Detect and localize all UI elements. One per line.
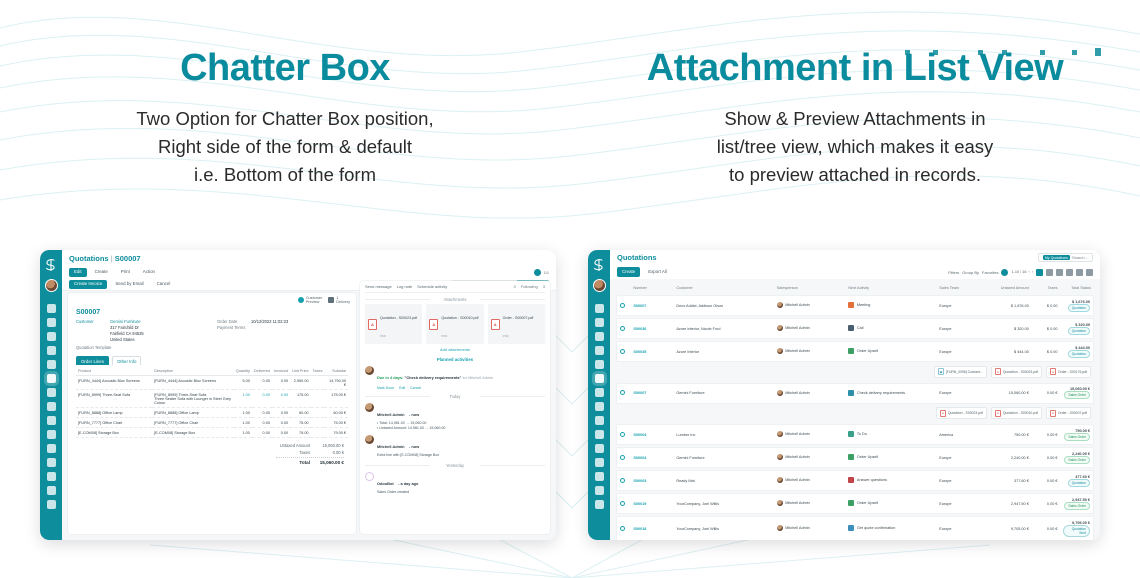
- breadcrumb-app[interactable]: Quotations: [69, 254, 109, 263]
- col-invoiced[interactable]: Invoiced: [272, 367, 290, 376]
- cell-delivered: 0.00: [252, 408, 272, 418]
- list-view-screenshot: Quotations My Quotations Search... Creat…: [588, 250, 1100, 540]
- sidebar-icon-list: [47, 304, 56, 509]
- attachment-chips-cell: AQuotation - S00023.pdfAQuotation - S000…: [616, 406, 1094, 423]
- col-description[interactable]: Description: [152, 367, 234, 376]
- cell-taxes: [311, 408, 325, 418]
- message-time: - now: [409, 412, 419, 417]
- sidebar-item-manufacturing[interactable]: [47, 416, 56, 425]
- table-row[interactable]: S00035Azure InteriorMitchell AdminOrder …: [616, 341, 1094, 362]
- cancel-button[interactable]: Cancel: [152, 280, 176, 289]
- customer-preview-smart-button[interactable]: Customer Preview: [298, 296, 322, 305]
- cell-invoiced: 0.00: [272, 376, 290, 390]
- cell-description: [E-COM08] Storage Box: [152, 428, 234, 438]
- table-row[interactable]: S00004Lumber IncMitchell AdminTo DoAmeri…: [616, 424, 1094, 445]
- sidebar-item-invoicing[interactable]: [47, 388, 56, 397]
- pager-prev-icon[interactable]: ‹: [1028, 270, 1029, 274]
- cell-product: [E-COM08] Storage Box: [76, 428, 152, 438]
- sidebar-item-purchase[interactable]: [47, 402, 56, 411]
- pager[interactable]: 1-10 / 16 ‹ ›: [1011, 270, 1033, 274]
- cell-sales-team: Europe: [936, 493, 979, 514]
- sidebar-item-crm[interactable]: [595, 318, 604, 327]
- cell-total-status: 2,947.50 € Sales Order: [1060, 493, 1094, 514]
- create-button[interactable]: Create: [617, 267, 640, 276]
- attachment-chip-name: Quotation - S00023.pdf: [1003, 370, 1038, 374]
- cell-quantity: 1.00: [234, 390, 252, 408]
- headings-row: Chatter Box Two Option for Chatter Box p…: [0, 0, 1140, 189]
- attachment-chip-name: Quotation - S00023.pdf: [948, 411, 983, 415]
- field-quotation-template: Quotation Template: [76, 345, 207, 350]
- breadcrumb-bar: Quotations My Quotations Search...: [610, 250, 1100, 265]
- cell-next-activity: Meeting: [845, 295, 936, 316]
- cancel-activity-button[interactable]: Cancel: [410, 386, 421, 390]
- table-row[interactable]: [FURN_8999] Three-Seat Sofa [FURN_8999] …: [76, 390, 348, 408]
- form-view-screenshot: Quotations | S00007 Edit Create Print Ac…: [40, 250, 556, 540]
- cell-salesperson: Mitchell Admin: [774, 516, 846, 540]
- status-badge: Quotation: [1068, 304, 1090, 312]
- search-facet[interactable]: My Quotations: [1043, 255, 1070, 260]
- status-badge: Sales Order: [1064, 502, 1090, 510]
- avatar: [777, 500, 783, 506]
- sidebar-item-hr[interactable]: [595, 444, 604, 453]
- form-column-right: Order Date 10/12/2022 11:02:23 Payment T…: [217, 319, 348, 352]
- sidebar-item-apps[interactable]: [595, 486, 604, 495]
- table-row[interactable]: [FURN_4444] Acoustic Bloc Screens [FURN_…: [76, 376, 348, 390]
- attachment-type: PDF: [441, 334, 447, 338]
- avatar-badge-icon: [534, 269, 541, 276]
- col-subtotal[interactable]: Subtotal: [324, 367, 348, 376]
- pdf-icon: A: [429, 319, 438, 330]
- cell-subtotal: 60.00 €: [324, 408, 348, 418]
- attachment-chip[interactable]: AQuotation - S00023.pdf: [936, 407, 987, 419]
- edit-activity-button[interactable]: Edit: [399, 386, 405, 390]
- sidebar-item-recruitment[interactable]: [595, 458, 604, 467]
- filters-dropdown[interactable]: Filters: [948, 270, 959, 275]
- cell-customer: Gemini Furniture: [673, 447, 773, 468]
- sidebar-item-inventory[interactable]: [47, 360, 56, 369]
- chatter-panel: Send message Log note Schedule activity …: [360, 281, 550, 534]
- sidebar-item-calendar[interactable]: [47, 332, 56, 341]
- sidebar-item-contacts[interactable]: [47, 346, 56, 355]
- cell-number: S00035: [630, 341, 673, 362]
- cell-sales-team: Europe: [936, 318, 979, 339]
- tab-other-info[interactable]: Other Info: [112, 356, 142, 365]
- quotations-table: Number Customer Salesperson Next Activit…: [616, 281, 1094, 540]
- heading-column-right: Attachment in List View Show & Preview A…: [570, 0, 1140, 189]
- activity-item: Due in 4 days: "Check delivery requireme…: [365, 366, 545, 390]
- cell-salesperson: Mitchell Admin: [774, 424, 846, 445]
- attachment-chip[interactable]: AOrder - S00007.pdf: [1046, 407, 1091, 419]
- col-salesperson[interactable]: Salesperson: [774, 283, 846, 293]
- sidebar-item-crm[interactable]: [47, 318, 56, 327]
- col-delivered[interactable]: Delivered: [252, 367, 272, 376]
- smart-button-line2: Preview: [306, 300, 320, 304]
- attachment-chip-name: Quotation - S00010.pdf: [1003, 411, 1038, 415]
- table-row[interactable]: [FURN_8888] Office Lamp [FURN_8888] Offi…: [76, 408, 348, 418]
- pdf-icon: A: [940, 410, 946, 417]
- follower-controls: 0 Following 3: [514, 284, 545, 289]
- cell-subtotal: 175.00 €: [324, 390, 348, 408]
- col-taxes[interactable]: Taxes: [311, 367, 325, 376]
- message-author: OdooBot: [377, 481, 394, 486]
- cell-next-activity: Order Upsell: [845, 493, 936, 514]
- cell-customer: Deco Addict, Addison Olson: [673, 295, 773, 316]
- bot-avatar: [365, 472, 374, 481]
- sidebar-item-apps[interactable]: [47, 486, 56, 495]
- sidebar-item-employees[interactable]: [47, 472, 56, 481]
- row-checkbox[interactable]: [616, 493, 630, 514]
- pdf-icon: A: [1050, 368, 1056, 375]
- table-row[interactable]: S00018YourCompany, Joel WillisMitchell A…: [616, 516, 1094, 540]
- cell-quantity: 5.00: [234, 376, 252, 390]
- app-logo-icon: [43, 257, 59, 273]
- pdf-icon: A: [995, 368, 1001, 375]
- favorites-dropdown[interactable]: Favorites: [982, 270, 998, 275]
- subtitle-line: Two Option for Chatter Box position,: [136, 108, 433, 129]
- cell-untaxed-amount: 750.00 €: [979, 424, 1032, 445]
- cell-taxes: [311, 428, 325, 438]
- action-button[interactable]: Action: [138, 268, 160, 277]
- calendar-icon: [848, 525, 854, 531]
- field-value[interactable]: Gemini Furniture 317 Fairchild Dr Fairfi…: [110, 319, 144, 344]
- cell-next-activity: Get quote confirmation: [845, 516, 936, 540]
- chatter-message: OdooBot - a day ago Sales Order created: [365, 472, 545, 495]
- field-label: Customer: [76, 319, 106, 344]
- sidebar-item-settings[interactable]: [47, 500, 56, 509]
- customer-street: 317 Fairchild Dr: [110, 325, 139, 330]
- sidebar-icon-list: [595, 304, 604, 509]
- table-row[interactable]: S00003Ready MatMitchell AdminAnswer ques…: [616, 470, 1094, 491]
- col-number[interactable]: Number: [630, 283, 673, 293]
- table-row[interactable]: S00007Gemini FurnitureMitchell AdminChec…: [616, 383, 1094, 404]
- field-order-date: Order Date 10/12/2022 11:02:23: [217, 319, 348, 324]
- col-total-status[interactable]: Total Status: [1060, 283, 1094, 293]
- total-untaxed-row: Untaxed Amount 15,060.00 €: [276, 443, 344, 448]
- create-button[interactable]: Create: [90, 268, 113, 277]
- breadcrumb: Quotations: [617, 253, 657, 262]
- col-select-all[interactable]: [616, 283, 630, 293]
- table-header-row: Product Description Quantity Delivered I…: [76, 367, 348, 376]
- app-logo-icon: [591, 257, 607, 273]
- table-row[interactable]: S00004Gemini FurnitureMitchell AdminOrde…: [616, 447, 1094, 468]
- cell-description: [FURN_7777] Office Chair: [152, 418, 234, 428]
- schedule-activity-button[interactable]: Schedule activity: [417, 284, 447, 289]
- row-checkbox[interactable]: [616, 447, 630, 468]
- sidebar-item-messaging[interactable]: [47, 304, 56, 313]
- cell-description: [FURN_4444] Acoustic Bloc Screens: [152, 376, 234, 390]
- sidebar-item-hr[interactable]: [47, 444, 56, 453]
- todo-icon: [848, 431, 854, 437]
- cell-untaxed-amount: 2,947.50 €: [979, 493, 1032, 514]
- tab-order-lines[interactable]: Order Lines: [76, 356, 109, 365]
- col-product[interactable]: Product: [76, 367, 152, 376]
- cell-customer: Azure Interior: [673, 341, 773, 362]
- send-by-email-button[interactable]: Send by Email: [110, 280, 148, 289]
- smart-buttons: Customer Preview 1 Delivery: [68, 293, 356, 305]
- cell-price: 60.00: [290, 408, 310, 418]
- list-view-body: Quotations My Quotations Search... Creat…: [610, 250, 1100, 540]
- cell-number: S00004: [630, 447, 673, 468]
- total-label: Taxes: [276, 450, 310, 455]
- row-checkbox[interactable]: [616, 383, 630, 404]
- add-attachments-button[interactable]: Add attachments: [365, 347, 545, 352]
- message-body: Sales Order created: [377, 490, 418, 495]
- sidebar-item-messaging[interactable]: [595, 304, 604, 313]
- day-separator-today: Today: [365, 394, 545, 399]
- pivot-view-icon[interactable]: [1066, 269, 1073, 276]
- heading-column-left: Chatter Box Two Option for Chatter Box p…: [0, 0, 570, 189]
- chatter-message: Mitchell Admin - now Extra line with [E-…: [365, 435, 545, 458]
- attachment-name: Quotation - S00010.pdf: [441, 316, 478, 320]
- field-label: Order Date: [217, 319, 247, 324]
- sidebar-item-contacts[interactable]: [595, 346, 604, 355]
- table-row[interactable]: S00007Deco Addict, Addison OlsonMitchell…: [616, 295, 1094, 316]
- cell-untaxed-amount: $ 444.00: [979, 341, 1032, 362]
- cell-number: S00003: [630, 470, 673, 491]
- col-untaxed-amount[interactable]: Untaxed Amount: [979, 283, 1032, 293]
- cell-taxes: $ 0.00: [1032, 341, 1061, 362]
- pdf-icon: A: [491, 319, 500, 330]
- subtitle-line: to preview attached in records.: [729, 164, 981, 185]
- sidebar-item-recruitment[interactable]: [47, 458, 56, 467]
- table-row[interactable]: [E-COM08] Storage Box [E-COM08] Storage …: [76, 428, 348, 438]
- attachment-card[interactable]: A Quotation - S00010.pdf PDF: [426, 304, 483, 344]
- pager-label[interactable]: 1/1: [544, 271, 549, 275]
- activity-view-icon[interactable]: [1086, 269, 1093, 276]
- image-icon: ▣: [938, 368, 944, 375]
- cell-sales-team: Europe: [936, 295, 979, 316]
- quotations-table-body: S00007Deco Addict, Addison OlsonMitchell…: [616, 295, 1094, 540]
- cell-product: [FURN_8999] Three-Seat Sofa: [76, 390, 152, 408]
- cell-taxes: $ 0.00: [1032, 295, 1061, 316]
- cell-salesperson: Mitchell Admin: [774, 318, 846, 339]
- meeting-icon: [848, 302, 854, 308]
- notebook-tabs: Order Lines Other Info: [68, 351, 356, 365]
- cell-subtotal: 14,750.00 €: [324, 376, 348, 390]
- col-total: Total: [1071, 286, 1079, 290]
- cell-product: [FURN_4444] Acoustic Bloc Screens: [76, 376, 152, 390]
- col-sales-team[interactable]: Sales Team: [936, 283, 979, 293]
- row-checkbox[interactable]: [616, 470, 630, 491]
- mark-done-button[interactable]: Mark Done: [377, 386, 394, 390]
- cell-number: S00018: [630, 516, 673, 540]
- pdf-icon: A: [368, 319, 377, 330]
- total-value: 15,060.00 €: [318, 460, 344, 465]
- cell-untaxed-amount: 2,240.00 €: [979, 447, 1032, 468]
- avatar: [777, 431, 783, 437]
- activity-due: Due in 4 days:: [377, 375, 403, 380]
- cell-quantity: 1.00: [234, 418, 252, 428]
- sidebar-item-sales[interactable]: [595, 374, 604, 383]
- total-grand-row: Total 15,060.00 €: [276, 457, 344, 465]
- user-avatar[interactable]: [593, 279, 606, 292]
- avatar-badge-icon: [1001, 269, 1008, 276]
- edit-button[interactable]: Edit: [69, 268, 87, 277]
- cell-delivered: 0.00: [252, 418, 272, 428]
- cell-number: S00019: [630, 493, 673, 514]
- smart-button-line2: Delivery: [336, 300, 350, 304]
- attachment-card[interactable]: A Quotation - S00023.pdf PDF: [365, 304, 422, 344]
- cell-price: 79.00: [290, 428, 310, 438]
- list-view-icon[interactable]: [1036, 269, 1043, 276]
- attachment-type: PDF: [503, 334, 509, 338]
- print-button[interactable]: Print: [116, 268, 135, 277]
- message-author: Mitchell Admin: [377, 412, 405, 417]
- chatter-message: Mitchell Admin - now • Total: 14,981.00 …: [365, 403, 545, 432]
- field-payment-terms: Payment Terms: [217, 325, 348, 330]
- search-input[interactable]: My Quotations Search...: [1038, 253, 1093, 262]
- following-button[interactable]: Following: [521, 284, 538, 289]
- status-badge: Sales Order: [1064, 391, 1090, 399]
- col-customer[interactable]: Customer: [673, 283, 773, 293]
- cell-description: [FURN_8888] Office Lamp: [152, 408, 234, 418]
- cell-quantity: 1.00: [234, 428, 252, 438]
- cell-untaxed-amount: 9,705.00 €: [979, 516, 1032, 540]
- user-avatar[interactable]: [45, 279, 58, 292]
- cell-number: S00036: [630, 318, 673, 339]
- sidebar-item-manufacturing[interactable]: [595, 416, 604, 425]
- cell-salesperson: Mitchell Admin: [774, 470, 846, 491]
- attachment-chip[interactable]: AQuotation - S00010.pdf: [991, 407, 1042, 419]
- send-message-button[interactable]: Send message: [365, 284, 392, 289]
- cell-untaxed-amount: 377.60 €: [979, 470, 1032, 491]
- row-checkbox[interactable]: [616, 424, 630, 445]
- attachment-card[interactable]: A Order - S00007.pdf PDF: [488, 304, 545, 344]
- cell-taxes: [311, 376, 325, 390]
- row-checkbox[interactable]: [616, 516, 630, 540]
- col-taxes[interactable]: Taxes: [1032, 283, 1061, 293]
- cell-next-activity: Call: [845, 318, 936, 339]
- total-label: Total: [276, 460, 310, 465]
- table-row[interactable]: S00036Azure Interior, Nicole FordMitchel…: [616, 318, 1094, 339]
- pager-label: 1-10 / 16: [1011, 270, 1026, 274]
- cell-total-status: $ 320.00 Quotation: [1060, 318, 1094, 339]
- activity-header: Due in 4 days: "Check delivery requireme…: [377, 375, 493, 380]
- attachment-chip-name: Order - S00007.pdf: [1058, 411, 1087, 415]
- avatar: [365, 366, 374, 375]
- attachment-chips-row: ▣[FURN_0096] Customi...AQuotation - S000…: [616, 364, 1094, 381]
- page-title-left: Chatter Box: [0, 48, 570, 89]
- message-body: Extra line with [E-COM08] Storage Box: [377, 453, 439, 458]
- cell-next-activity: To Do: [845, 424, 936, 445]
- cell-untaxed-amount: $ 1,676.00: [979, 295, 1032, 316]
- attachment-chip-list: ▣[FURN_0096] Customi...AQuotation - S000…: [619, 366, 1091, 378]
- message-time: - a day ago: [398, 481, 418, 486]
- cell-invoiced: 0.00: [272, 408, 290, 418]
- row-checkbox[interactable]: [616, 318, 630, 339]
- cell-number: S00007: [630, 295, 673, 316]
- export-all-button[interactable]: Export All: [643, 267, 672, 276]
- breadcrumb-separator: |: [111, 254, 113, 263]
- delivery-smart-button[interactable]: 1 Delivery: [328, 296, 350, 305]
- cell-quantity: 1.00: [234, 408, 252, 418]
- field-value[interactable]: 10/12/2022 11:02:23: [251, 319, 288, 324]
- table-row[interactable]: [FURN_7777] Office Chair [FURN_7777] Off…: [76, 418, 348, 428]
- row-checkbox[interactable]: [616, 295, 630, 316]
- cell-taxes: 0.00 €: [1032, 383, 1061, 404]
- customer-city: Fairfield CA 94535: [110, 331, 144, 336]
- pdf-icon: A: [995, 410, 1001, 417]
- avatar: [777, 477, 783, 483]
- pager-next-icon[interactable]: ›: [1032, 270, 1033, 274]
- create-invoice-button[interactable]: Create Invoice: [69, 280, 107, 289]
- status-badge: Sales Order: [1064, 433, 1090, 441]
- avatar: [777, 390, 783, 396]
- page-title-right: Attachment in List View: [570, 48, 1140, 89]
- cell-price: 2,950.00: [290, 376, 310, 390]
- sidebar-item-calendar[interactable]: [595, 332, 604, 341]
- status-badge: Quotation: [1068, 479, 1090, 487]
- cell-total-status: 9,705.00 € Quotation Sent: [1060, 516, 1094, 540]
- question-icon: [848, 477, 854, 483]
- subtitle-line: Show & Preview Attachments in: [724, 108, 985, 129]
- calendar-view-icon[interactable]: [1056, 269, 1063, 276]
- activity-assignee: for Mitchell Admin: [462, 375, 493, 380]
- log-note-button[interactable]: Log note: [397, 284, 413, 289]
- cell-invoiced: 0.00: [272, 418, 290, 428]
- cell-taxes: 0.00 €: [1032, 470, 1061, 491]
- upsell-icon: [848, 500, 854, 506]
- cell-sales-team: Europe: [936, 516, 979, 540]
- cell-total-status: $ 1,676.00 Quotation: [1060, 295, 1094, 316]
- attachment-chip[interactable]: AQuotation - S00023.pdf: [991, 366, 1042, 378]
- attachment-chip-name: [FURN_0096] Customi...: [946, 370, 983, 374]
- col-quantity[interactable]: Quantity: [234, 367, 252, 376]
- sidebar-item-sales[interactable]: [47, 374, 56, 383]
- cell-customer: Gemini Furniture: [673, 383, 773, 404]
- attachment-chip[interactable]: AOrder - S00176.pdf: [1046, 366, 1091, 378]
- cell-untaxed-amount: 15,060.00 €: [979, 383, 1032, 404]
- status-badge: Quotation Sent: [1063, 525, 1090, 537]
- sidebar-item-inventory[interactable]: [595, 360, 604, 369]
- kanban-view-icon[interactable]: [1046, 269, 1053, 276]
- clipboard-icon: [848, 390, 854, 396]
- avatar: [777, 302, 783, 308]
- followers-count[interactable]: 0: [514, 284, 516, 289]
- sidebar-item-settings[interactable]: [595, 500, 604, 509]
- cell-next-activity: Answer questions: [845, 470, 936, 491]
- sidebar-item-purchase[interactable]: [595, 402, 604, 411]
- sidebar-item-invoicing[interactable]: [595, 388, 604, 397]
- sidebar-item-employees[interactable]: [595, 472, 604, 481]
- avatar: [365, 403, 374, 412]
- message-body: • Total: 14,981.00 → 15,060.00 • Untaxed…: [377, 421, 445, 432]
- avatar: [777, 325, 783, 331]
- graph-view-icon[interactable]: [1076, 269, 1083, 276]
- sidebar-item-website[interactable]: [47, 430, 56, 439]
- customer-name[interactable]: Gemini Furniture: [110, 319, 141, 324]
- row-checkbox[interactable]: [616, 341, 630, 362]
- cell-taxes: 0.00 €: [1032, 493, 1061, 514]
- cell-description: [FURN_8999] Three-Seat Sofa Three Seater…: [152, 390, 234, 408]
- col-next-activity[interactable]: Next Activity: [845, 283, 936, 293]
- cell-number: S00007: [630, 383, 673, 404]
- cell-subtotal: 79.00 €: [324, 428, 348, 438]
- cell-taxes: [311, 418, 325, 428]
- attachment-chip[interactable]: ▣[FURN_0096] Customi...: [934, 366, 987, 378]
- sidebar-item-website[interactable]: [595, 430, 604, 439]
- followers-number[interactable]: 3: [543, 284, 545, 289]
- cell-total-status: 2,240.00 € Sales Order: [1060, 447, 1094, 468]
- cell-customer: YourCompany, Joel Willis: [673, 493, 773, 514]
- col-unit-price[interactable]: Unit Price: [290, 367, 310, 376]
- cell-product: [FURN_7777] Office Chair: [76, 418, 152, 428]
- table-row[interactable]: S00019YourCompany, Joel WillisMitchell A…: [616, 493, 1094, 514]
- cell-taxes: $ 0.00: [1032, 318, 1061, 339]
- cell-invoiced: 0.00: [272, 428, 290, 438]
- group-by-dropdown[interactable]: Group By: [962, 270, 979, 275]
- form-fields: Customer Gemini Furniture 317 Fairchild …: [68, 316, 356, 352]
